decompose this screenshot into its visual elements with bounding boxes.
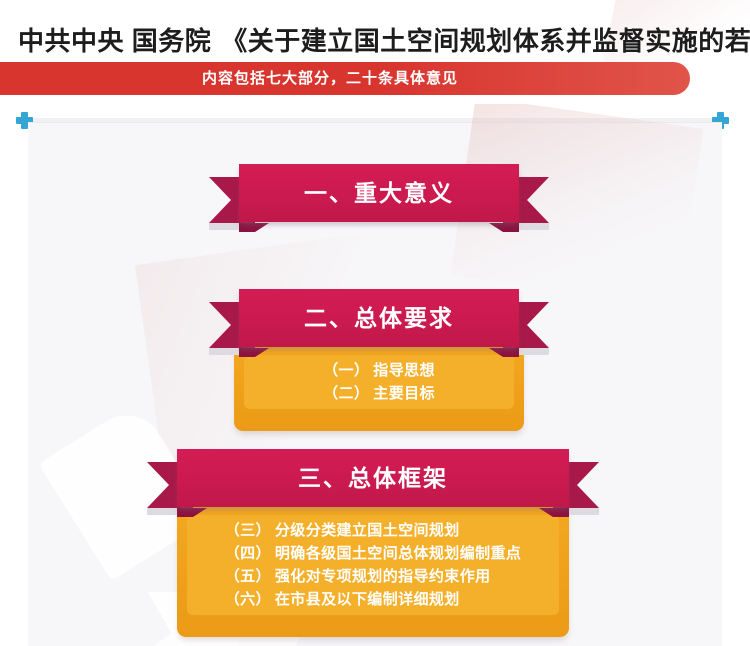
list-item[interactable]: （四）明确各级国土空间总体规划编制重点	[225, 542, 522, 565]
item-text: 指导思想	[373, 362, 435, 379]
item-text: 主要目标	[373, 385, 435, 402]
list-item[interactable]: （三）分级分类建立国土空间规划	[225, 519, 522, 542]
item-text: 强化对专项规划的指导约束作用	[275, 568, 491, 585]
item-number: （一）	[323, 362, 369, 379]
section-heading-3: 三、总体框架	[147, 449, 599, 507]
section-content-box-3: （三）分级分类建立国土空间规划 （四）明确各级国土空间总体规划编制重点 （五）强…	[177, 497, 569, 637]
page-header: 中共中央 国务院《关于建立国土空间规划体系并监督实施的若干意见》 内容包括七大部…	[0, 0, 750, 104]
item-text: 明确各级国土空间总体规划编制重点	[275, 545, 521, 562]
item-text: 分级分类建立国土空间规划	[275, 522, 460, 539]
list-item[interactable]: （五）强化对专项规划的指导约束作用	[225, 565, 522, 588]
subtitle-text: 内容包括七大部分，二十条具体意见	[0, 62, 690, 95]
item-number: （四）	[225, 545, 271, 562]
section-block-3: 三、总体框架 （三）分级分类建立国土空间规划 （四）明确各级国土空间总体规划编制…	[147, 449, 599, 637]
content-stage: 一、重大意义 二、总体要求 （一）指导思想 （二）主要目标	[0, 104, 750, 646]
list-item[interactable]: （一）指导思想	[323, 359, 435, 382]
item-number: （二）	[323, 385, 369, 402]
item-text: 在市县及以下编制详细规划	[275, 591, 460, 608]
section-content-box-2: （一）指导思想 （二）主要目标	[234, 337, 524, 431]
page-title: 中共中央 国务院《关于建立国土空间规划体系并监督实施的若干意见》	[18, 21, 750, 58]
item-number: （六）	[225, 591, 271, 608]
title-document: 《关于建立国土空间规划体系并监督实施的若干意见》	[221, 26, 750, 56]
section-item-list-2: （一）指导思想 （二）主要目标	[234, 337, 524, 431]
section-heading-2: 二、总体要求	[209, 289, 549, 347]
list-item[interactable]: （六）在市县及以下编制详细规划	[225, 588, 522, 611]
section-block-2: 二、总体要求 （一）指导思想 （二）主要目标	[209, 289, 549, 431]
section-block-1: 一、重大意义	[209, 164, 549, 222]
ribbon-banner-1[interactable]: 一、重大意义	[209, 164, 549, 222]
list-item[interactable]: （二）主要目标	[323, 382, 435, 405]
item-number: （五）	[225, 568, 271, 585]
ribbon-banner-2[interactable]: 二、总体要求	[209, 289, 549, 347]
section-item-list-3: （三）分级分类建立国土空间规划 （四）明确各级国土空间总体规划编制重点 （五）强…	[177, 497, 569, 637]
ribbon-banner-3[interactable]: 三、总体框架	[147, 449, 599, 507]
section-heading-1: 一、重大意义	[209, 164, 549, 222]
item-number: （三）	[225, 522, 271, 539]
title-organization: 中共中央 国务院	[18, 26, 211, 56]
